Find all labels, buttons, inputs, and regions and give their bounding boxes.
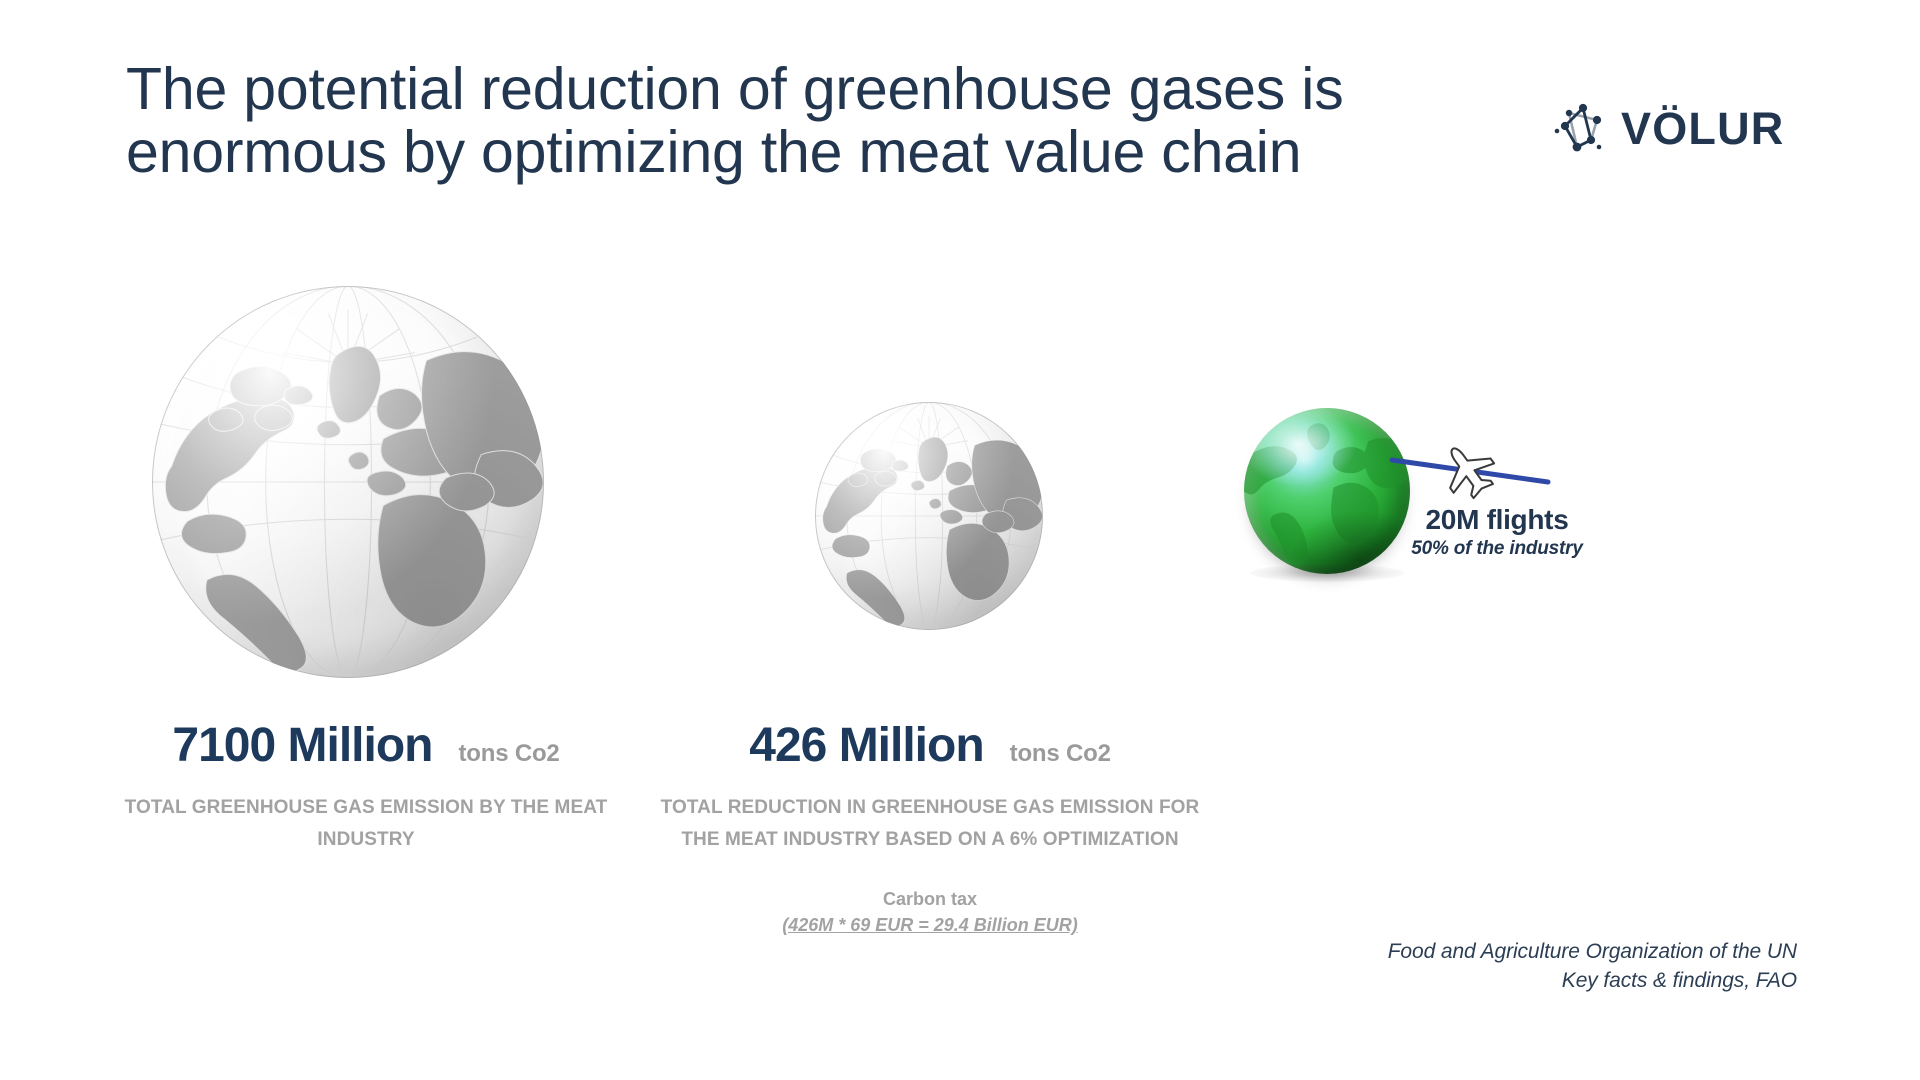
carbon-tax-formula: (426M * 69 EUR = 29.4 Billion EUR)	[650, 912, 1210, 938]
title-line-2: enormous by optimizing the meat value ch…	[126, 121, 1466, 184]
slide-canvas: The potential reduction of greenhouse ga…	[0, 0, 1920, 1080]
brand-logo: VÖLUR	[1553, 100, 1785, 156]
stat-number: 426 Million	[749, 718, 983, 774]
source-attribution: Food and Agriculture Organization of the…	[1237, 937, 1797, 995]
stat-caption: TOTAL GREENHOUSE GAS EMISSION BY THE MEA…	[86, 792, 646, 856]
globe-grey-large-icon	[152, 286, 544, 678]
stat-unit: tons Co2	[459, 740, 560, 768]
source-line-1: Food and Agriculture Organization of the…	[1237, 937, 1797, 966]
airplane-icon	[1390, 442, 1550, 502]
flights-share: 50% of the industry	[1392, 536, 1602, 562]
stat-column-total-reduction: 426 Million tons Co2 TOTAL REDUCTION IN …	[650, 270, 1210, 938]
source-line-2: Key facts & findings, FAO	[1237, 966, 1797, 995]
globe-grey-small-icon	[815, 402, 1043, 630]
brand-name: VÖLUR	[1621, 106, 1785, 151]
stat-column-flights: 20M flights 50% of the industry	[1240, 270, 1860, 690]
globe-green-shadow	[1250, 564, 1404, 582]
flights-label-block: 20M flights 50% of the industry	[1392, 504, 1602, 562]
stat-column-total-emission: 7100 Million tons Co2 TOTAL GREENHOUSE G…	[86, 270, 646, 856]
carbon-tax-block: Carbon tax (426M * 69 EUR = 29.4 Billion…	[650, 886, 1210, 938]
globe-slot-large	[86, 270, 646, 690]
globe-green-icon	[1244, 408, 1410, 574]
globe-slot-green: 20M flights 50% of the industry	[1240, 270, 1860, 690]
title-line-1: The potential reduction of greenhouse ga…	[126, 58, 1466, 121]
globe-slot-small	[650, 270, 1210, 690]
stat-number: 7100 Million	[172, 718, 432, 774]
stat-unit: tons Co2	[1010, 740, 1111, 768]
flights-count: 20M flights	[1392, 504, 1602, 536]
stat-row: 7100 Million tons Co2	[86, 718, 646, 774]
carbon-tax-title: Carbon tax	[650, 886, 1210, 912]
stat-caption: TOTAL REDUCTION IN GREENHOUSE GAS EMISSI…	[650, 792, 1210, 856]
network-nodes-icon	[1553, 100, 1607, 156]
page-title: The potential reduction of greenhouse ga…	[126, 58, 1466, 184]
stat-row: 426 Million tons Co2	[650, 718, 1210, 774]
